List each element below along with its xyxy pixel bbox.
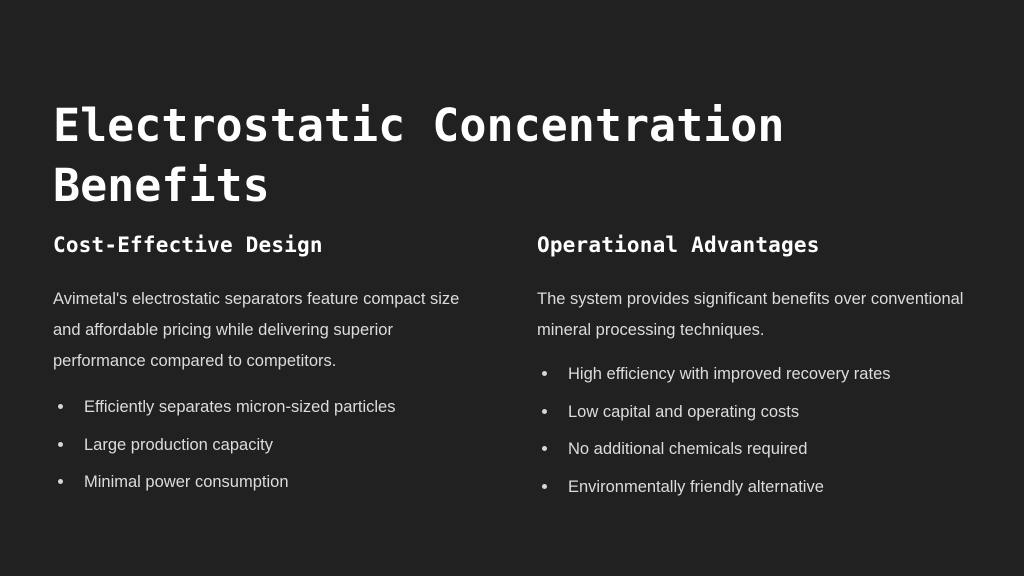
bullet-dot-icon [542, 371, 547, 376]
column-cost-effective-design: Cost-Effective Design Avimetal's electro… [53, 231, 487, 498]
bullet-list: High efficiency with improved recovery r… [537, 363, 971, 498]
bullet-dot-icon [58, 442, 63, 447]
list-item-label: Efficiently separates micron-sized parti… [84, 398, 396, 416]
list-item-label: High efficiency with improved recovery r… [568, 365, 891, 383]
page-title: Electrostatic Concentration Benefits [53, 96, 883, 216]
column-heading: Cost-Effective Design [53, 231, 487, 259]
list-item-label: Environmentally friendly alternative [568, 478, 824, 496]
list-item: Low capital and operating costs [537, 401, 971, 423]
slide-canvas: Electrostatic Concentration Benefits Cos… [0, 0, 1024, 576]
bullet-dot-icon [58, 479, 63, 484]
bullet-dot-icon [542, 446, 547, 451]
column-paragraph: The system provides significant benefits… [537, 284, 971, 346]
column-heading: Operational Advantages [537, 231, 971, 259]
list-item: High efficiency with improved recovery r… [537, 363, 971, 385]
list-item: Efficiently separates micron-sized parti… [53, 396, 487, 418]
content-columns: Cost-Effective Design Avimetal's electro… [53, 231, 971, 498]
bullet-dot-icon [58, 404, 63, 409]
list-item: Minimal power consumption [53, 471, 487, 493]
list-item-label: No additional chemicals required [568, 440, 807, 458]
list-item: No additional chemicals required [537, 438, 971, 460]
column-paragraph: Avimetal's electrostatic separators feat… [53, 284, 487, 377]
list-item-label: Low capital and operating costs [568, 403, 799, 421]
list-item: Environmentally friendly alternative [537, 476, 971, 498]
list-item: Large production capacity [53, 434, 487, 456]
bullet-dot-icon [542, 484, 547, 489]
column-operational-advantages: Operational Advantages The system provid… [537, 231, 971, 498]
list-item-label: Large production capacity [84, 436, 273, 454]
bullet-list: Efficiently separates micron-sized parti… [53, 396, 487, 493]
list-item-label: Minimal power consumption [84, 473, 289, 491]
bullet-dot-icon [542, 409, 547, 414]
